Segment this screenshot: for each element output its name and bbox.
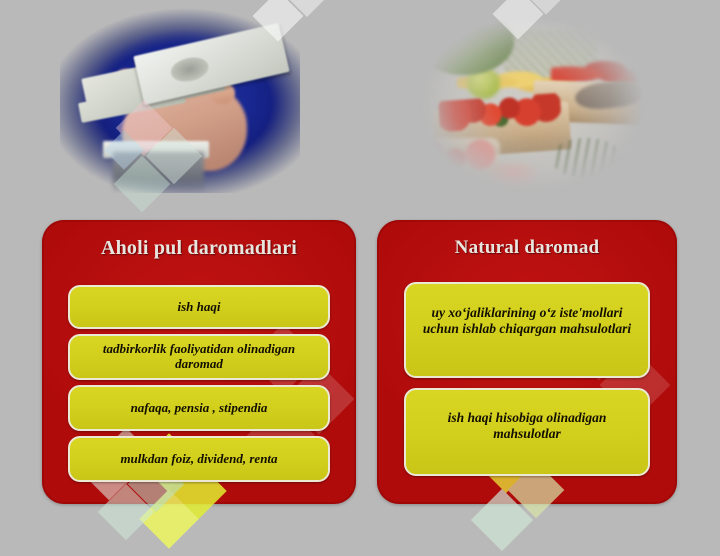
money-photo — [60, 8, 300, 193]
list-item[interactable]: ish haqi — [68, 285, 330, 329]
list-item[interactable]: uy xoʻjaliklarining oʻz iste'mollari uch… — [404, 282, 650, 378]
list-item[interactable]: ish haqi hisobiga olinadigan mahsulotlar — [404, 388, 650, 476]
watermelon-stripes — [551, 138, 622, 179]
food-photo — [415, 8, 650, 193]
panel-natural-income: Natural daromad uy xoʻjaliklarining oʻz … — [377, 220, 677, 504]
panel-right-item-list: uy xoʻjaliklarining oʻz iste'mollari uch… — [377, 282, 677, 476]
slide-canvas: Aholi pul daromadlari ish haqi tadbirkor… — [0, 0, 720, 540]
list-item[interactable]: nafaqa, pensia , stipendia — [68, 385, 330, 431]
panel-money-income: Aholi pul daromadlari ish haqi tadbirkor… — [42, 220, 356, 504]
watermelon — [415, 8, 514, 75]
list-item[interactable]: tadbirkorlik faoliyatidan olinadigan dar… — [68, 334, 330, 380]
list-item-label: tadbirkorlik faoliyatidan olinadigan dar… — [70, 342, 328, 372]
list-item[interactable]: mulkdan foiz, dividend, renta — [68, 436, 330, 482]
list-item-label: ish haqi — [170, 300, 229, 315]
sleeve — [113, 152, 204, 193]
banknote-portrait — [168, 54, 211, 85]
panel-left-title: Aholi pul daromadlari — [42, 237, 356, 260]
list-item-label: nafaqa, pensia , stipendia — [123, 401, 276, 416]
panel-right-title: Natural daromad — [377, 237, 677, 259]
list-item-label: uy xoʻjaliklarining oʻz iste'mollari uch… — [406, 305, 648, 338]
list-item-label: mulkdan foiz, dividend, renta — [112, 452, 285, 467]
list-item-label: ish haqi hisobiga olinadigan mahsulotlar — [406, 410, 648, 443]
pink-fruit-cloth — [481, 163, 542, 193]
panel-left-item-list: ish haqi tadbirkorlik faoliyatidan olina… — [42, 285, 356, 482]
